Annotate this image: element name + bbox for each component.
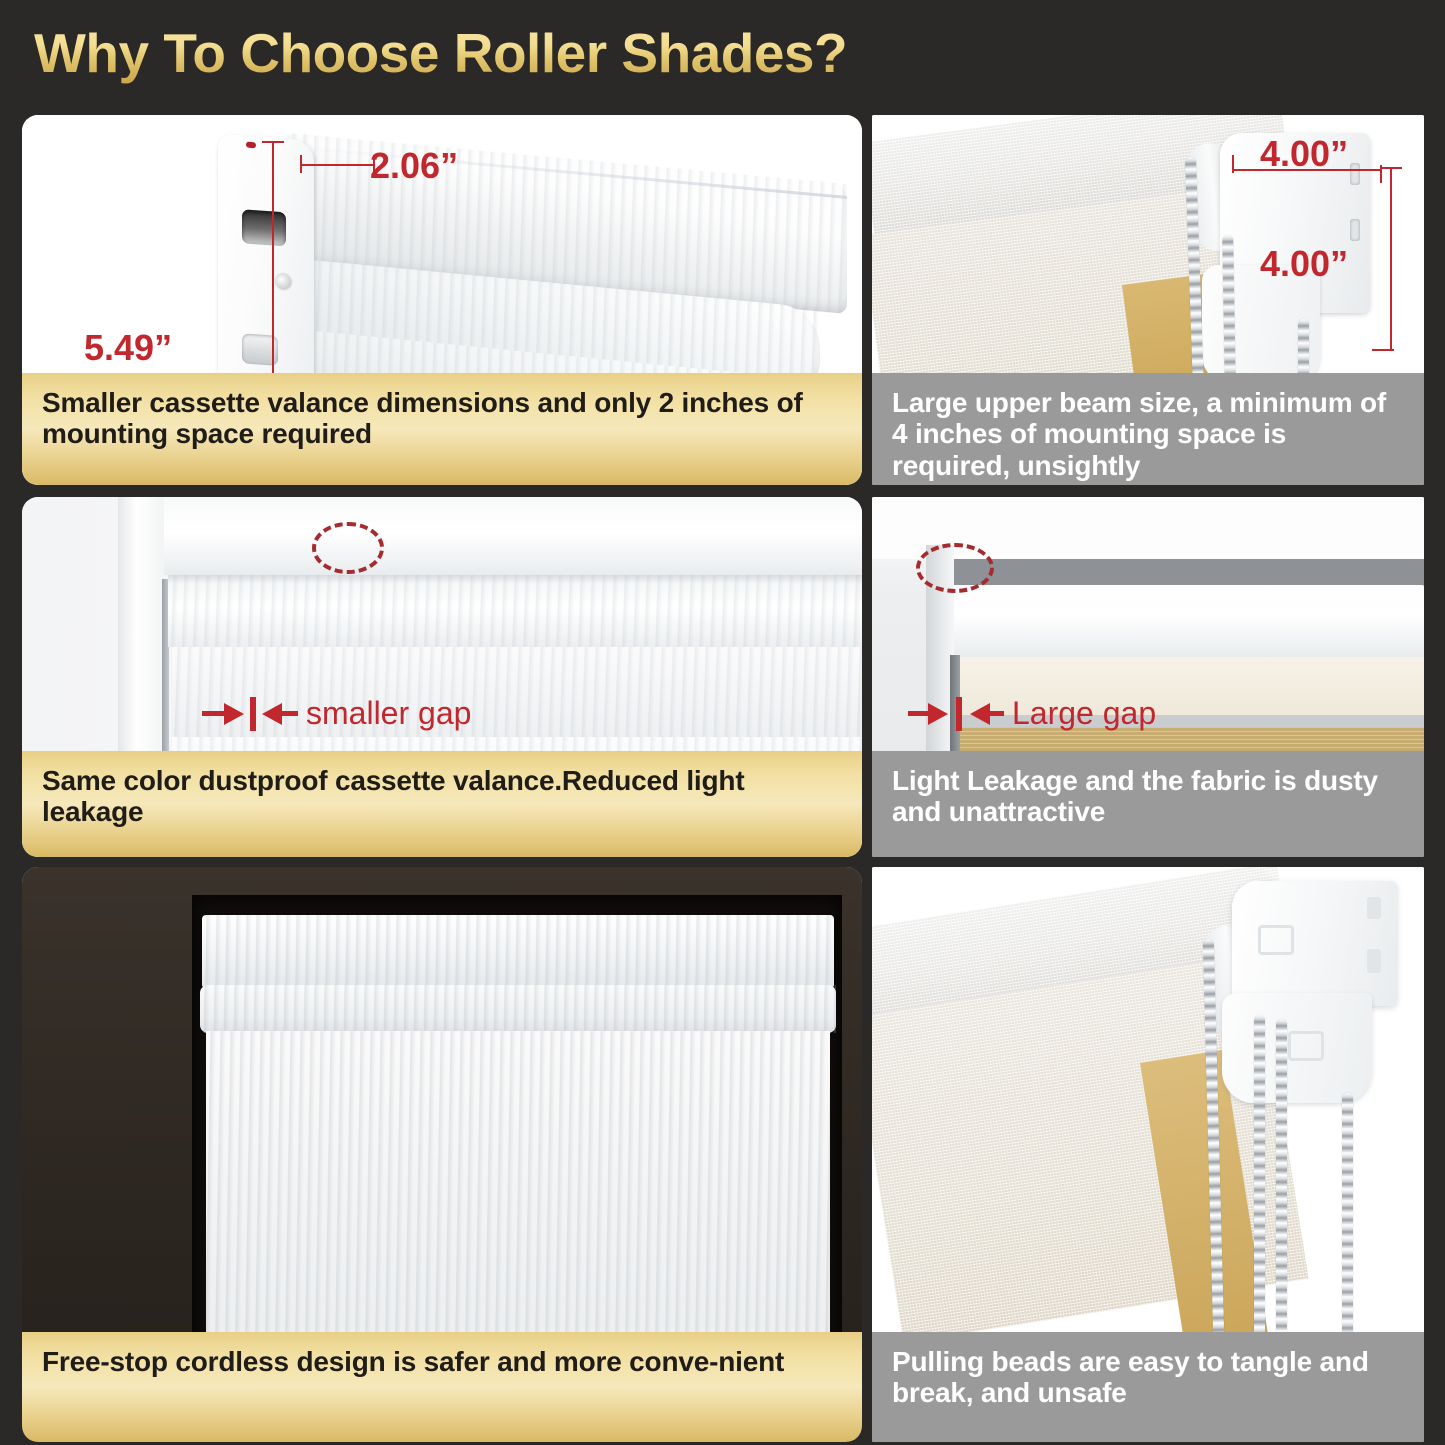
gap-label: smaller gap (306, 695, 471, 732)
gap-marker-bar (250, 697, 256, 731)
bead-chain-middle-2 (1276, 1019, 1287, 1339)
valance-front-rail (200, 985, 836, 1033)
endcap-marker-dot (246, 142, 256, 149)
panel-light-leakage: Large gap Light Leakage and the fabric i… (872, 497, 1424, 857)
window-frame-top (118, 497, 862, 575)
height-dimension-tick-top (262, 141, 284, 143)
infographic-page: Why To Choose Roller Shades? (0, 0, 1445, 1445)
panel-grid: 5.49” 2.06” Smaller cassette valance dim… (0, 105, 1445, 1445)
panel-caption: Pulling beads are easy to tangle and bre… (872, 1332, 1424, 1442)
arrow-stem-left (908, 711, 928, 716)
arrow-stem-right (990, 711, 1004, 716)
arrow-stem-right (282, 711, 298, 716)
arrow-left-icon (970, 703, 990, 725)
gap-label: Large gap (1012, 695, 1156, 732)
width-dimension-label: 2.06” (370, 145, 458, 187)
roller-symbol-icon (1258, 925, 1294, 955)
panel-pulling-beads: Pulling beads are easy to tangle and bre… (872, 867, 1424, 1442)
width-dimension-label: 4.00” (1260, 133, 1348, 175)
valance-texture (202, 915, 834, 987)
mounting-bracket-lower (1222, 993, 1372, 1103)
bracket-slot-1 (1367, 897, 1381, 919)
panel-caption: Light Leakage and the fabric is dusty an… (872, 751, 1424, 857)
height-dimension-label: 5.49” (84, 327, 172, 369)
bracket-slot-2 (1367, 949, 1381, 973)
gap-marker-bar (956, 697, 962, 731)
panel-cordless-design: Free-stop cordless design is safer and m… (22, 867, 862, 1442)
title-bar: Why To Choose Roller Shades? (0, 0, 1445, 105)
panel-caption: Smaller cassette valance dimensions and … (22, 373, 862, 485)
width-dimension-line (300, 164, 375, 166)
panel-dustproof-valance: smaller gap Same color dustproof cassett… (22, 497, 862, 857)
arrow-right-icon (928, 703, 948, 725)
valance-texture (200, 985, 836, 1033)
width-dimension-tick-left (1232, 155, 1234, 173)
bracket-slot-2 (1350, 219, 1360, 241)
height-dimension-tick-top (1380, 167, 1402, 169)
arrow-right-icon (224, 703, 244, 725)
upper-beam (950, 585, 1424, 661)
endcap-slot (242, 209, 286, 246)
height-dimension-tick-bottom (1372, 349, 1394, 351)
cassette-valance (168, 575, 862, 647)
panel-caption: Free-stop cordless design is safer and m… (22, 1332, 862, 1442)
valance-texture (168, 575, 862, 647)
bracket-slot-1 (1350, 163, 1360, 185)
shade-fabric (206, 1031, 830, 1355)
width-dimension-tick-left (300, 155, 302, 173)
height-dimension-line (1390, 167, 1392, 351)
bead-chain-right (1342, 1093, 1353, 1339)
cassette-valance (202, 915, 834, 987)
gap-annotation: Large gap (908, 695, 1156, 732)
shade-texture (206, 1031, 830, 1355)
bead-chain-middle (1254, 1015, 1265, 1339)
panel-cassette-valance: 5.49” 2.06” Smaller cassette valance dim… (22, 115, 862, 485)
height-dimension-label: 4.00” (1260, 243, 1348, 285)
panel-caption: Same color dustproof cassette valance.Re… (22, 751, 862, 857)
roller-symbol-icon (1288, 1031, 1324, 1061)
arrow-left-icon (262, 703, 282, 725)
highlight-circle (312, 522, 384, 574)
panel-large-upper-beam: 4.00” 4.00” Large upper beam size, a min… (872, 115, 1424, 485)
valance-end-cap (218, 134, 314, 401)
arrow-stem-left (202, 711, 224, 716)
panel-caption: Large upper beam size, a minimum of 4 in… (872, 373, 1424, 485)
page-title: Why To Choose Roller Shades? (34, 21, 847, 85)
highlight-circle (916, 543, 994, 593)
gap-annotation: smaller gap (202, 695, 471, 732)
mounting-bracket-upper (1232, 881, 1397, 1006)
endcap-screw-upper (276, 274, 291, 290)
